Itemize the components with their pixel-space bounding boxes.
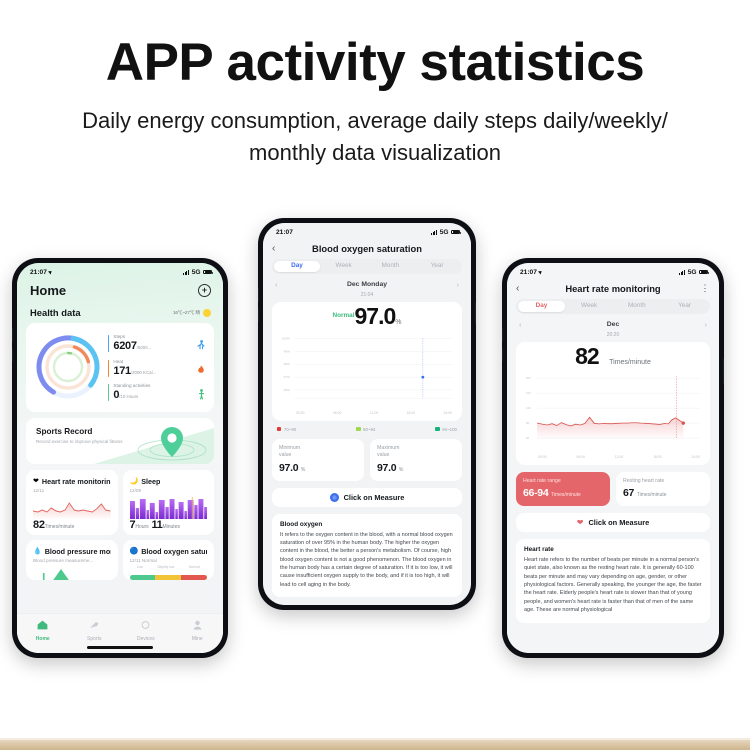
mini-cards-row-2: 💧 Blood pressure mor Blood pressure meas… [26, 540, 214, 580]
battery-icon [451, 230, 460, 235]
hr-summary-cards: Heart rate range 66-94 Times/minute Rest… [516, 472, 710, 507]
hr-chart: 200160120 8040 0 [524, 371, 702, 459]
home-title: Home [30, 283, 66, 298]
card-value: 97.0 [279, 462, 298, 474]
svg-text:40: 40 [526, 436, 530, 440]
card-blood-oxygen[interactable]: 🔵 Blood oxygen satur 12/11 Normal Low Sl… [123, 540, 215, 580]
weather-text: 16℃~27℃ 晴 [173, 310, 200, 316]
legend-item: 90~94 [356, 427, 375, 432]
spo2-legend: 70~90 90~94 94~100 [263, 421, 471, 432]
map-pin-illustration [94, 422, 214, 464]
status-bar: 21:07 5G [263, 223, 471, 239]
spo2-value: 97.0 [355, 303, 396, 329]
back-icon[interactable]: ‹ [272, 243, 282, 254]
card-title: Blood oxygen satur [141, 547, 207, 556]
hr-reading: 82 Times/minute [524, 345, 702, 368]
floor-strip [0, 740, 750, 750]
measure-button[interactable]: ❤ Click on Measure [516, 513, 710, 532]
card-unit: % [301, 467, 305, 473]
status-bar: 21:07 5G [17, 263, 223, 279]
segment-month[interactable]: Month [367, 263, 414, 269]
status-bar: 21:07 5G [507, 263, 719, 279]
heart-icon: ❤ [33, 478, 39, 485]
spo2-measure-icon [330, 493, 339, 502]
current-date: Dec Monday [347, 281, 387, 288]
sun-icon [203, 309, 211, 317]
card-unit: Hours [135, 524, 148, 530]
hr-x-axis: 00:00 06:00 12:00 18:00 24:00 [524, 454, 702, 459]
spo2-scale-bar [130, 575, 208, 580]
add-device-icon[interactable]: + [198, 284, 211, 297]
prev-date-icon[interactable]: ‹ [275, 280, 278, 289]
spo2-summary-cards: Minimum value 97.0 % Maximum value 97.0 … [272, 439, 462, 481]
card-title: Heart rate monitorin [42, 477, 111, 486]
card-value-2: 11 [151, 519, 162, 531]
x-tick: 24:00 [444, 411, 453, 415]
card-unit-2: Minutes [162, 524, 180, 530]
svg-text:100%: 100% [282, 336, 290, 340]
nav-bar: ‹ Heart rate monitoring ⋮ [507, 279, 719, 299]
period-segmented-control: Day Week Month Year [272, 259, 462, 274]
x-tick: 24:00 [692, 455, 701, 459]
card-date: 12/09 [130, 488, 208, 493]
metric-unit: /10 Hours [119, 394, 138, 399]
card-value: 67 [623, 487, 634, 499]
legend-item: 70~90 [277, 427, 296, 432]
period-segmented-control: Day Week Month Year [516, 299, 710, 314]
status-time: 21:07 [30, 269, 47, 276]
x-tick: 00:00 [296, 411, 305, 415]
info-title: Blood oxygen [280, 521, 454, 528]
spo2-x-axis: 00:00 06:00 12:00 18:00 24:00 [280, 410, 454, 415]
metrics-list: Steps 6207/6000... Heat 171/2000 KCal... [108, 332, 206, 403]
next-date-icon[interactable]: › [456, 280, 459, 289]
battery-icon [699, 270, 708, 275]
spo2-chart-card: Normal97.0% 100%99%98% 97%96% [272, 302, 462, 421]
card-subtitle: 12/11 Normal [130, 558, 208, 563]
nav-bar: ‹ Blood oxygen saturation [263, 239, 471, 259]
card-value: 66-94 [523, 487, 548, 499]
power-button[interactable] [475, 302, 476, 324]
segment-month[interactable]: Month [613, 303, 661, 309]
maximum-value-card: Maximum value 97.0 % [370, 439, 462, 481]
card-value: 82 [33, 519, 45, 531]
tab-sports[interactable]: Sports [69, 620, 121, 642]
network-label: 5G [440, 229, 449, 236]
legend-label: 90~94 [363, 427, 375, 432]
home-indicator [87, 646, 153, 649]
sleep-mini-chart [130, 497, 208, 519]
battery-icon [203, 270, 212, 275]
legend-swatch [356, 427, 360, 431]
metric-heat: Heat 171/2000 KCal... [108, 359, 206, 378]
minimum-value-card: Minimum value 97.0 % [272, 439, 364, 481]
measure-time: 20:20 [507, 332, 719, 338]
svg-text:80: 80 [526, 421, 530, 425]
hr-chart-card: 82 Times/minute 200160120 804 [516, 342, 710, 465]
card-unit: Times/minute [551, 492, 581, 498]
tab-home[interactable]: Home [17, 620, 69, 642]
card-unit: % [399, 467, 403, 473]
tab-label: Devices [137, 636, 155, 642]
home-header: Home + [17, 279, 223, 298]
phone-heart-rate: 21:07 5G ‹ Heart rate monitoring ⋮ Day W… [502, 258, 724, 658]
signal-icon [431, 230, 437, 235]
metric-unit: /6000... [137, 345, 152, 350]
page-title: Heart rate monitoring [531, 283, 695, 294]
more-options-icon[interactable]: ⋮ [700, 283, 710, 294]
measure-button-label: Click on Measure [588, 518, 649, 527]
x-tick: 06:00 [576, 455, 585, 459]
flame-icon [196, 359, 206, 377]
metric-value: 6207 [113, 340, 136, 352]
tab-label: Mine [192, 636, 203, 642]
droplet-icon: 💧 [33, 548, 42, 555]
x-tick: 12:00 [615, 455, 624, 459]
heart-rate-range-card: Heart rate range 66-94 Times/minute [516, 472, 610, 507]
x-tick: 18:00 [407, 411, 416, 415]
metric-accent-bar [108, 384, 109, 401]
svg-text:120: 120 [526, 406, 531, 410]
card-blood-pressure[interactable]: 💧 Blood pressure mor Blood pressure meas… [26, 540, 118, 580]
info-title: Heart rate [524, 546, 702, 553]
home-icon [37, 620, 48, 633]
card-title: Blood pressure mor [45, 547, 111, 556]
svg-text:97%: 97% [284, 375, 290, 379]
tick-label: Low [137, 565, 143, 569]
measure-button[interactable]: Click on Measure [272, 488, 462, 507]
metric-standing: Standing activities 0/10 Hours [108, 383, 206, 402]
svg-text:160: 160 [526, 391, 531, 395]
sports-icon [89, 620, 100, 633]
card-label-line2: value [377, 452, 455, 460]
hr-value: 82 [575, 343, 599, 369]
segment-day[interactable]: Day [274, 261, 321, 273]
tab-mine[interactable]: Mine [172, 620, 224, 642]
svg-text:98%: 98% [284, 362, 290, 366]
spo2-scale-ticks: Low Slightly low Normal [130, 565, 208, 569]
metric-steps: Steps 6207/6000... [108, 334, 206, 353]
phone-blood-oxygen: 21:07 5G ‹ Blood oxygen saturation Day W… [258, 218, 476, 610]
page-subtitle: Daily energy consumption, average daily … [0, 105, 750, 169]
segment-year[interactable]: Year [661, 303, 709, 309]
status-time: 21:07 [276, 229, 293, 236]
tab-label: Home [36, 636, 50, 642]
blood-pressure-mini-chart [33, 567, 111, 580]
phone-spo2-screen: 21:07 5G ‹ Blood oxygen saturation Day W… [263, 223, 471, 605]
metric-unit: /2000 KCal... [131, 370, 156, 375]
mini-cards-row-1: ❤ Heart rate monitorin 12/11 82Times/min… [26, 470, 214, 535]
sports-record-card[interactable]: Sports Record Record exercise to improve… [26, 418, 214, 464]
location-icon [538, 270, 543, 275]
resting-heart-rate-card: Resting heart rate 67 Times/minute [616, 472, 710, 507]
measure-button-label: Click on Measure [344, 493, 405, 502]
metric-accent-bar [108, 360, 109, 377]
hr-info-card: Heart rate Heart rate refers to the numb… [516, 539, 710, 623]
info-text: Heart rate refers to the number of beats… [524, 556, 702, 615]
heart-rate-mini-chart [33, 497, 111, 519]
spo2-info-card: Blood oxygen It refers to the oxygen con… [272, 514, 462, 598]
volume-up-button[interactable] [258, 288, 259, 302]
svg-text:200: 200 [526, 376, 531, 380]
status-time: 21:07 [520, 269, 537, 276]
network-label: 5G [688, 269, 697, 276]
page-title: Blood oxygen saturation [287, 243, 447, 254]
back-icon[interactable]: ‹ [516, 283, 526, 294]
location-icon [48, 270, 53, 275]
status-badge: Normal [332, 312, 354, 319]
volume-up-button[interactable] [502, 328, 503, 342]
weather-widget: 16℃~27℃ 晴 [173, 309, 211, 317]
legend-label: 94~100 [442, 427, 457, 432]
power-button[interactable] [723, 358, 724, 384]
watch-icon [140, 620, 151, 633]
standing-icon [196, 383, 206, 402]
card-label: Resting heart rate [623, 478, 703, 486]
x-tick: 00:00 [538, 455, 547, 459]
page-subtitle-line1: Daily energy consumption, average daily … [0, 105, 750, 137]
card-label-line1: Minimum [279, 445, 357, 453]
info-text: It refers to the oxygen content in the b… [280, 531, 454, 590]
health-metrics-card[interactable]: Steps 6207/6000... Heat 171/2000 KCal... [26, 323, 214, 412]
svg-text:96%: 96% [284, 387, 290, 391]
current-date: Dec [607, 321, 619, 328]
x-tick: 18:00 [653, 455, 662, 459]
volume-down-button[interactable] [502, 348, 503, 362]
x-tick: 06:00 [333, 411, 342, 415]
page-title: APP activity statistics [0, 34, 750, 91]
hr-unit: Times/minute [609, 359, 651, 366]
segment-year[interactable]: Year [414, 263, 461, 269]
spo2-chart: 100%99%98% 97%96% 00:00 06:00 [280, 331, 454, 415]
heart-icon: ❤ [577, 519, 584, 527]
card-subtitle: Blood pressure measureme... [33, 558, 111, 563]
tab-label: Sports [87, 636, 101, 642]
card-label-line1: Maximum [377, 445, 455, 453]
activity-rings [32, 331, 104, 403]
page-header: APP activity statistics Daily energy con… [0, 0, 750, 169]
health-data-label: Health data [30, 307, 81, 318]
legend-item: 94~100 [435, 427, 457, 432]
card-unit: Times/minute [45, 524, 75, 530]
phone-home: 21:07 5G Home + Health data 16℃~27℃ 晴 [12, 258, 228, 658]
signal-icon [679, 270, 685, 275]
tick-label: Slightly low [157, 565, 174, 569]
date-navigator: ‹ Dec › [507, 314, 719, 329]
metric-accent-bar [108, 335, 109, 352]
tick-label: Normal [189, 565, 200, 569]
tab-devices[interactable]: Devices [120, 620, 172, 642]
svg-text:99%: 99% [284, 349, 290, 353]
card-date: 12/11 [33, 488, 111, 493]
spo2-reading: Normal97.0% [280, 305, 454, 328]
segment-week[interactable]: Week [565, 303, 613, 309]
card-heart-rate[interactable]: ❤ Heart rate monitorin 12/11 82Times/min… [26, 470, 118, 535]
legend-swatch [435, 427, 439, 431]
volume-up-button[interactable] [12, 328, 13, 342]
next-date-icon[interactable]: › [705, 320, 708, 329]
phone-hr-screen: 21:07 5G ‹ Heart rate monitoring ⋮ Day W… [507, 263, 719, 653]
page-subtitle-line2: monthly data visualization [0, 137, 750, 169]
user-icon [192, 620, 203, 633]
spo2-icon: 🔵 [130, 548, 139, 555]
card-value: 97.0 [377, 462, 396, 474]
date-navigator: ‹ Dec Monday › [263, 274, 471, 289]
network-label: 5G [192, 269, 201, 276]
legend-label: 70~90 [284, 427, 296, 432]
card-unit: Times/minute [637, 492, 667, 498]
card-sleep[interactable]: 🌙 Sleep 12/09 [123, 470, 215, 535]
phone-home-screen: 21:07 5G Home + Health data 16℃~27℃ 晴 [17, 263, 223, 653]
signal-icon [183, 270, 189, 275]
segment-week[interactable]: Week [320, 263, 367, 269]
x-tick: 12:00 [370, 411, 379, 415]
walking-icon [196, 334, 206, 353]
metric-value: 171 [113, 365, 130, 377]
prev-date-icon[interactable]: ‹ [519, 320, 522, 329]
card-title: Sleep [141, 477, 160, 486]
moon-icon: 🌙 [130, 478, 139, 485]
volume-down-button[interactable] [12, 348, 13, 362]
card-label-line2: value [279, 452, 357, 460]
volume-down-button[interactable] [258, 308, 259, 322]
segment-day[interactable]: Day [518, 301, 566, 313]
legend-swatch [277, 427, 281, 431]
health-data-header: Health data 16℃~27℃ 晴 [17, 298, 223, 323]
spo2-unit: % [395, 319, 401, 326]
card-label: Heart rate range [523, 478, 603, 486]
measure-time: 21:04 [263, 292, 471, 298]
